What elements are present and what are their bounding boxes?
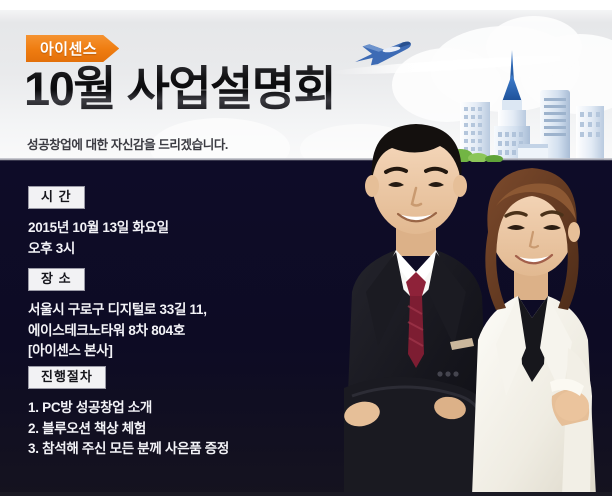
time-section: 시 간 2015년 10월 13일 화요일 오후 3시	[28, 186, 169, 259]
page-title: 10월 사업설명회	[24, 64, 335, 113]
procedure-line: 3. 참석해 주신 모든 분께 사은품 증정	[28, 439, 229, 460]
business-couple-photo	[300, 96, 612, 496]
procedure-line: 2. 블루오션 책상 체험	[28, 419, 229, 440]
procedure-line: 1. PC방 성공창업 소개	[28, 398, 229, 419]
bottom-edge-strip	[0, 492, 612, 496]
page-subtitle: 성공창업에 대한 자신감을 드리겠습니다.	[27, 134, 228, 153]
time-value: 2015년 10월 13일 화요일 오후 3시	[28, 218, 169, 259]
time-line: 2015년 10월 13일 화요일	[28, 218, 169, 239]
procedure-section: 진행절차 1. PC방 성공창업 소개 2. 블루오션 책상 체험 3. 참석해…	[28, 366, 229, 460]
place-value: 서울시 구로구 디지털로 33길 11, 에이스테크노타워 8차 804호 [아…	[28, 300, 207, 362]
top-white-strip	[0, 0, 612, 10]
place-label: 장 소	[28, 268, 85, 291]
seminar-banner: 아이센스 10월 사업설명회 성공창업에 대한 자신감을 드리겠습니다. 시 간…	[0, 0, 612, 496]
time-line: 오후 3시	[28, 239, 169, 260]
place-line: 서울시 구로구 디지털로 33길 11,	[28, 300, 207, 321]
procedure-value: 1. PC방 성공창업 소개 2. 블루오션 책상 체험 3. 참석해 주신 모…	[28, 398, 229, 460]
place-line: [아이센스 본사]	[28, 341, 207, 362]
place-section: 장 소 서울시 구로구 디지털로 33길 11, 에이스테크노타워 8차 804…	[28, 268, 207, 362]
brand-tag: 아이센스	[26, 35, 119, 62]
time-label: 시 간	[28, 186, 85, 209]
procedure-label: 진행절차	[28, 366, 106, 389]
place-line: 에이스테크노타워 8차 804호	[28, 321, 207, 342]
